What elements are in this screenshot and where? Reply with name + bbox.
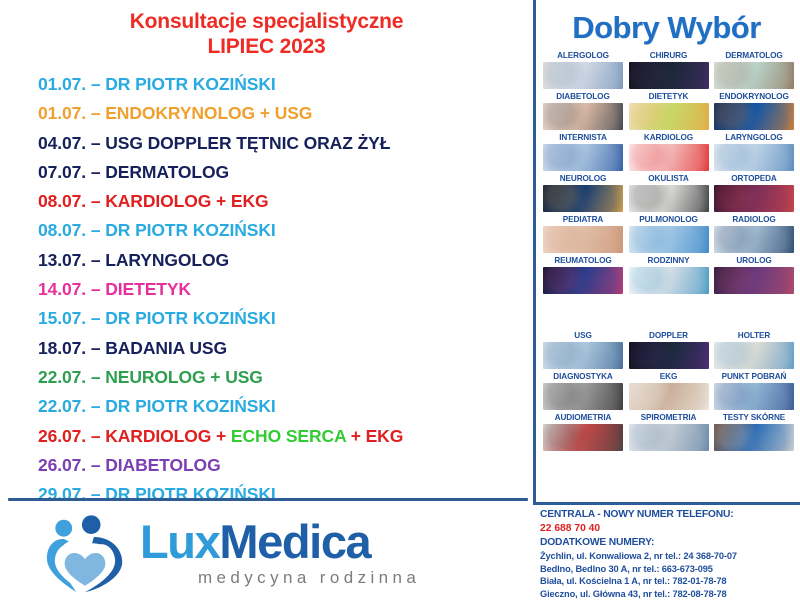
- ultrasound-photo-icon: [543, 342, 623, 369]
- specialty-tile-row: ALERGOLOGCHIRURGDERMATOLOG: [543, 50, 794, 89]
- specialty-tile-label: NEUROLOG: [543, 173, 623, 184]
- specialty-tile-label: AUDIOMETRIA: [543, 412, 623, 423]
- poster-title: Konsultacje specjalistyczne LIPIEC 2023: [0, 0, 533, 59]
- specialty-tile[interactable]: EKG: [629, 371, 709, 410]
- specialty-tile-label: INTERNISTA: [543, 132, 623, 143]
- schedule-row: 13.07. – LARYNGOLOG: [38, 246, 533, 275]
- schedule-row: 04.07. – USG DOPPLER TĘTNIC ORAZ ŻYŁ: [38, 129, 533, 158]
- schedule-text: DERMATOLOG: [105, 162, 229, 182]
- schedule-row: 22.07. – DR PIOTR KOZIŃSKI: [38, 392, 533, 421]
- joint-bone-photo-icon: [714, 185, 794, 212]
- specialty-tile-row: REUMATOLOGRODZINNYUROLOG: [543, 255, 794, 294]
- specialty-tile-label: PULMONOLOG: [629, 214, 709, 225]
- specialty-tile[interactable]: DIABETOLOG: [543, 91, 623, 130]
- schedule-row: 08.07. – DR PIOTR KOZIŃSKI: [38, 216, 533, 245]
- schedule-dash: –: [86, 396, 105, 416]
- schedule-row: 26.07. – DIABETOLOG: [38, 451, 533, 480]
- baby-photo-icon: [543, 226, 623, 253]
- schedule-text: LARYNGOLOG: [105, 250, 229, 270]
- schedule-date: 08.07.: [38, 191, 86, 211]
- specialty-tile-label: KARDIOLOG: [629, 132, 709, 143]
- schedule-row: 14.07. – DIETETYK: [38, 275, 533, 304]
- tile-image-texture: [714, 342, 794, 369]
- schedule-dash: –: [86, 191, 105, 211]
- eye-chart-photo-icon: [629, 185, 709, 212]
- schedule-date: 15.07.: [38, 308, 86, 328]
- ct-scanner-photo-icon: [543, 383, 623, 410]
- audiometry-headphones-photo-icon: [543, 424, 623, 451]
- ear-hearing-photo-icon: [714, 144, 794, 171]
- schedule-date: 08.07.: [38, 220, 86, 240]
- title-line-2: LIPIEC 2023: [0, 34, 533, 59]
- specialty-tile[interactable]: ORTOPEDA: [714, 173, 794, 212]
- specialty-tile-label: OKULISTA: [629, 173, 709, 184]
- schedule-text: DR PIOTR KOZIŃSKI: [105, 220, 275, 240]
- schedule-panel: Konsultacje specjalistyczne LIPIEC 2023 …: [0, 0, 533, 600]
- diagnostics-tile-grid: USGDOPPLERHOLTERDIAGNOSTYKAEKGPUNKT POBR…: [533, 326, 800, 451]
- schedule-dash: –: [86, 484, 105, 504]
- schedule-row: 01.07. – DR PIOTR KOZIŃSKI: [38, 70, 533, 99]
- schedule-date: 26.07.: [38, 426, 86, 446]
- schedule-dash: –: [86, 133, 105, 153]
- schedule-date: 04.07.: [38, 133, 86, 153]
- schedule-row: 15.07. – DR PIOTR KOZIŃSKI: [38, 304, 533, 333]
- specialty-tile-row: USGDOPPLERHOLTER: [543, 330, 794, 369]
- specialty-tile[interactable]: PULMONOLOG: [629, 214, 709, 253]
- tile-image-texture: [714, 185, 794, 212]
- schedule-row: 07.07. – DERMATOLOG: [38, 158, 533, 187]
- specialty-tile-label: REUMATOLOG: [543, 255, 623, 266]
- tile-image-texture: [629, 103, 709, 130]
- specialty-tile-row: PEDIATRAPULMONOLOGRADIOLOG: [543, 214, 794, 253]
- specialty-tile-label: UROLOG: [714, 255, 794, 266]
- schedule-date: 07.07.: [38, 162, 86, 182]
- tile-image-texture: [543, 62, 623, 89]
- schedule-text: USG DOPPLER TĘTNIC ORAZ ŻYŁ: [105, 133, 390, 153]
- specialty-tile[interactable]: CHIRURG: [629, 50, 709, 89]
- vertical-divider: [533, 0, 536, 505]
- schedule-text-segment: + EKG: [346, 426, 403, 446]
- specialty-tile[interactable]: PUNKT POBRAŃ: [714, 371, 794, 410]
- schedule-text: DIABETOLOG: [105, 455, 220, 475]
- specialty-tile-label: TESTY SKÓRNE: [714, 412, 794, 423]
- schedule-list: 01.07. – DR PIOTR KOZIŃSKI01.07. – ENDOK…: [0, 70, 533, 509]
- specialty-tile[interactable]: RODZINNY: [629, 255, 709, 294]
- tile-image-texture: [629, 144, 709, 171]
- specialty-tile-label: HOLTER: [714, 330, 794, 341]
- specialty-tile[interactable]: HOLTER: [714, 330, 794, 369]
- luxmedica-logo: LuxMedica medycyna rodzinna: [0, 505, 533, 600]
- schedule-text: KARDIOLOG +: [105, 426, 231, 446]
- schedule-dash: –: [86, 74, 105, 94]
- tile-image-texture: [714, 383, 794, 410]
- branch-line: Żychlin, ul. Konwaliowa 2, nr tel.: 24 3…: [540, 550, 800, 563]
- fruits-vegetables-photo-icon: [629, 103, 709, 130]
- tile-image-texture: [629, 185, 709, 212]
- schedule-row: 08.07. – KARDIOLOG + EKG: [38, 187, 533, 216]
- logo-medica: Medica: [219, 515, 370, 568]
- tile-image-texture: [714, 267, 794, 294]
- tile-image-texture: [629, 62, 709, 89]
- title-line-1: Konsultacje specjalistyczne: [0, 9, 533, 34]
- tile-image-texture: [543, 226, 623, 253]
- neuron-photo-icon: [543, 185, 623, 212]
- specialty-tile-label: RADIOLOG: [714, 214, 794, 225]
- specialty-tile[interactable]: INTERNISTA: [543, 132, 623, 171]
- rheumatology-photo-icon: [543, 267, 623, 294]
- specialty-tile-label: RODZINNY: [629, 255, 709, 266]
- specialty-tile-label: DOPPLER: [629, 330, 709, 341]
- schedule-dash: –: [86, 279, 105, 299]
- spirometer-photo-icon: [629, 424, 709, 451]
- tile-image-texture: [543, 103, 623, 130]
- schedule-dash: –: [86, 367, 105, 387]
- specialty-tile-label: DERMATOLOG: [714, 50, 794, 61]
- central-phone[interactable]: 22 688 70 40: [540, 522, 800, 536]
- specialty-tile[interactable]: NEUROLOG: [543, 173, 623, 212]
- schedule-date: 18.07.: [38, 338, 86, 358]
- ekg-exam-photo-icon: [629, 383, 709, 410]
- schedule-text: DR PIOTR KOZIŃSKI: [105, 74, 275, 94]
- logo-tagline: medycyna rodzinna: [198, 568, 420, 588]
- tile-image-texture: [629, 226, 709, 253]
- schedule-text: DIETETYK: [105, 279, 191, 299]
- schedule-text-segment: ECHO SERCA: [231, 426, 346, 446]
- tile-image-texture: [543, 383, 623, 410]
- tile-image-texture: [543, 185, 623, 212]
- schedule-text: DR PIOTR KOZIŃSKI: [105, 396, 275, 416]
- specialty-tile[interactable]: RADIOLOG: [714, 214, 794, 253]
- specialty-tile-label: LARYNGOLOG: [714, 132, 794, 143]
- schedule-text: ENDOKRYNOLOG + USG: [105, 103, 312, 123]
- doppler-scan-photo-icon: [629, 342, 709, 369]
- schedule-date: 22.07.: [38, 396, 86, 416]
- schedule-text: KARDIOLOG + EKG: [105, 191, 268, 211]
- schedule-dash: –: [86, 162, 105, 182]
- holter-device-photo-icon: [714, 342, 794, 369]
- lungs-photo-icon: [629, 226, 709, 253]
- tile-image-texture: [629, 342, 709, 369]
- specialty-tile-label: SPIROMETRIA: [629, 412, 709, 423]
- branch-line: Bedlno, Bedlno 30 A, nr tel.: 663-673-09…: [540, 563, 800, 576]
- specialty-tile-label: PEDIATRA: [543, 214, 623, 225]
- allergy-test-photo-icon: [543, 62, 623, 89]
- specialty-tile-row: DIABETOLOGDIETETYKENDOKRYNOLOG: [543, 91, 794, 130]
- glucometer-photo-icon: [543, 103, 623, 130]
- logo-lux: Lux: [140, 515, 219, 568]
- specialty-tile-label: ORTOPEDA: [714, 173, 794, 184]
- tile-image-texture: [629, 424, 709, 451]
- schedule-date: 22.07.: [38, 367, 86, 387]
- specialty-tile[interactable]: PEDIATRA: [543, 214, 623, 253]
- contact-divider: [536, 502, 800, 505]
- specialty-tile-label: DIABETOLOG: [543, 91, 623, 102]
- schedule-dash: –: [86, 308, 105, 328]
- specialty-tile[interactable]: DOPPLER: [629, 330, 709, 369]
- specialty-tile-grid: ALERGOLOGCHIRURGDERMATOLOGDIABETOLOGDIET…: [533, 46, 800, 294]
- tile-image-texture: [543, 144, 623, 171]
- branch-list: Żychlin, ul. Konwaliowa 2, nr tel.: 24 3…: [540, 550, 800, 601]
- schedule-date: 29.07.: [38, 484, 86, 504]
- specialty-tile[interactable]: UROLOG: [714, 255, 794, 294]
- schedule-row: 26.07. – KARDIOLOG + ECHO SERCA + EKG: [38, 422, 533, 451]
- specialty-tile-row: INTERNISTAKARDIOLOGLARYNGOLOG: [543, 132, 794, 171]
- tile-image-texture: [714, 424, 794, 451]
- specialty-tile[interactable]: DIAGNOSTYKA: [543, 371, 623, 410]
- specialty-tile[interactable]: SPIROMETRIA: [629, 412, 709, 451]
- specialty-tile[interactable]: REUMATOLOG: [543, 255, 623, 294]
- surgery-photo-icon: [629, 62, 709, 89]
- specialty-tile-label: ENDOKRYNOLOG: [714, 91, 794, 102]
- schedule-date: 26.07.: [38, 455, 86, 475]
- tile-image-texture: [629, 383, 709, 410]
- contact-block: CENTRALA - NOWY NUMER TELEFONU: 22 688 7…: [533, 508, 800, 601]
- specialty-tile-label: DIAGNOSTYKA: [543, 371, 623, 382]
- specialty-tile[interactable]: DERMATOLOG: [714, 50, 794, 89]
- heart-family-logo-icon: [42, 514, 128, 592]
- central-label: CENTRALA - NOWY NUMER TELEFONU:: [540, 508, 800, 522]
- schedule-dash: –: [86, 338, 105, 358]
- heart-ecg-photo-icon: [629, 144, 709, 171]
- specialty-tile-row: DIAGNOSTYKAEKGPUNKT POBRAŃ: [543, 371, 794, 410]
- schedule-dash: –: [86, 220, 105, 240]
- specialty-tile[interactable]: OKULISTA: [629, 173, 709, 212]
- poster: Konsultacje specjalistyczne LIPIEC 2023 …: [0, 0, 800, 600]
- specialty-tile-label: USG: [543, 330, 623, 341]
- schedule-text: BADANIA USG: [105, 338, 227, 358]
- ultrasound-probe-photo-icon: [714, 226, 794, 253]
- logo-wordmark: LuxMedica medycyna rodzinna: [140, 518, 420, 588]
- specialty-tile-label: ALERGOLOG: [543, 50, 623, 61]
- specialty-tile-label: DIETETYK: [629, 91, 709, 102]
- brand-title: Dobry Wybór: [533, 0, 800, 46]
- schedule-dash: –: [86, 455, 105, 475]
- specialty-tile-label: CHIRURG: [629, 50, 709, 61]
- tile-image-texture: [543, 424, 623, 451]
- specialty-tile-label: PUNKT POBRAŃ: [714, 371, 794, 382]
- tile-image-texture: [714, 62, 794, 89]
- schedule-text: DR PIOTR KOZIŃSKI: [105, 308, 275, 328]
- tile-grid-spacer: [533, 296, 800, 326]
- schedule-date: 13.07.: [38, 250, 86, 270]
- schedule-row: 18.07. – BADANIA USG: [38, 334, 533, 363]
- specialty-tile[interactable]: DIETETYK: [629, 91, 709, 130]
- specialty-tile-row: AUDIOMETRIASPIROMETRIATESTY SKÓRNE: [543, 412, 794, 451]
- specialty-tile[interactable]: ENDOKRYNOLOG: [714, 91, 794, 130]
- schedule-text: DR PIOTR KOZIŃSKI: [105, 484, 275, 504]
- specialty-tile-label: EKG: [629, 371, 709, 382]
- schedule-row: 22.07. – NEUROLOG + USG: [38, 363, 533, 392]
- specialties-panel: Dobry Wybór ALERGOLOGCHIRURGDERMATOLOGDI…: [533, 0, 800, 600]
- kidney-photo-icon: [714, 267, 794, 294]
- tile-image-texture: [714, 103, 794, 130]
- tile-image-texture: [543, 267, 623, 294]
- thyroid-gland-photo-icon: [714, 103, 794, 130]
- family-stethoscope-photo-icon: [629, 267, 709, 294]
- schedule-dash: –: [86, 103, 105, 123]
- tile-image-texture: [714, 226, 794, 253]
- specialty-tile[interactable]: TESTY SKÓRNE: [714, 412, 794, 451]
- stethoscope-photo-icon: [543, 144, 623, 171]
- branch-line: Biała, ul. Kościelna 1 A, nr tel.: 782-0…: [540, 575, 800, 588]
- schedule-date: 01.07.: [38, 103, 86, 123]
- schedule-date: 01.07.: [38, 74, 86, 94]
- schedule-date: 14.07.: [38, 279, 86, 299]
- specialty-tile[interactable]: ALERGOLOG: [543, 50, 623, 89]
- specialty-tile-row: NEUROLOGOKULISTAORTOPEDA: [543, 173, 794, 212]
- tile-image-texture: [714, 144, 794, 171]
- blood-vials-photo-icon: [714, 383, 794, 410]
- tile-image-texture: [629, 267, 709, 294]
- specialty-tile[interactable]: AUDIOMETRIA: [543, 412, 623, 451]
- branch-line: Gieczno, ul. Główna 43, nr tel.: 782-08-…: [540, 588, 800, 601]
- specialty-tile[interactable]: KARDIOLOG: [629, 132, 709, 171]
- skin-exam-photo-icon: [714, 62, 794, 89]
- schedule-dash: –: [86, 426, 105, 446]
- schedule-text: NEUROLOG + USG: [105, 367, 263, 387]
- additional-label: DODATKOWE NUMERY:: [540, 536, 800, 550]
- specialty-tile[interactable]: LARYNGOLOG: [714, 132, 794, 171]
- specialty-tile[interactable]: USG: [543, 330, 623, 369]
- schedule-dash: –: [86, 250, 105, 270]
- skin-tests-photo-icon: [714, 424, 794, 451]
- schedule-row: 01.07. – ENDOKRYNOLOG + USG: [38, 99, 533, 128]
- tile-image-texture: [543, 342, 623, 369]
- section-divider: [8, 498, 528, 501]
